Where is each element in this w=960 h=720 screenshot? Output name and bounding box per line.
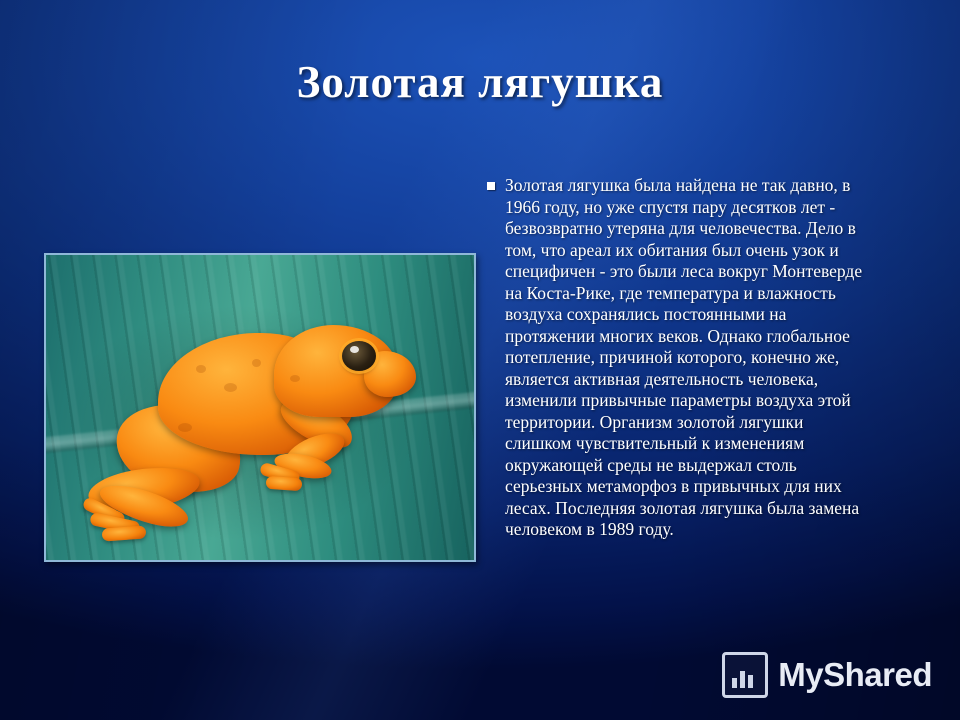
slide: Золотая лягушка	[0, 0, 960, 720]
frog-speckle	[196, 365, 206, 373]
watermark-label: MyShared	[778, 656, 932, 694]
list-item: Золотая лягушка была найдена не так давн…	[487, 175, 873, 541]
page-title: Золотая лягушка	[0, 56, 960, 108]
frog-speckle	[252, 359, 261, 367]
square-bullet-icon	[487, 182, 495, 190]
frog-speckle	[178, 423, 192, 432]
body-content: Золотая лягушка была найдена не так давн…	[487, 175, 873, 541]
bar-chart-icon	[722, 652, 768, 698]
frog-speckle	[290, 375, 300, 382]
frog-toe	[266, 476, 303, 491]
frog-toe	[102, 525, 147, 541]
frog-illustration	[46, 255, 474, 560]
frog-eye	[342, 341, 376, 371]
frog-speckle	[224, 383, 237, 392]
frog-photo	[44, 253, 476, 562]
watermark: MyShared	[722, 652, 932, 698]
list-item-label: Золотая лягушка была найдена не так давн…	[505, 175, 873, 541]
